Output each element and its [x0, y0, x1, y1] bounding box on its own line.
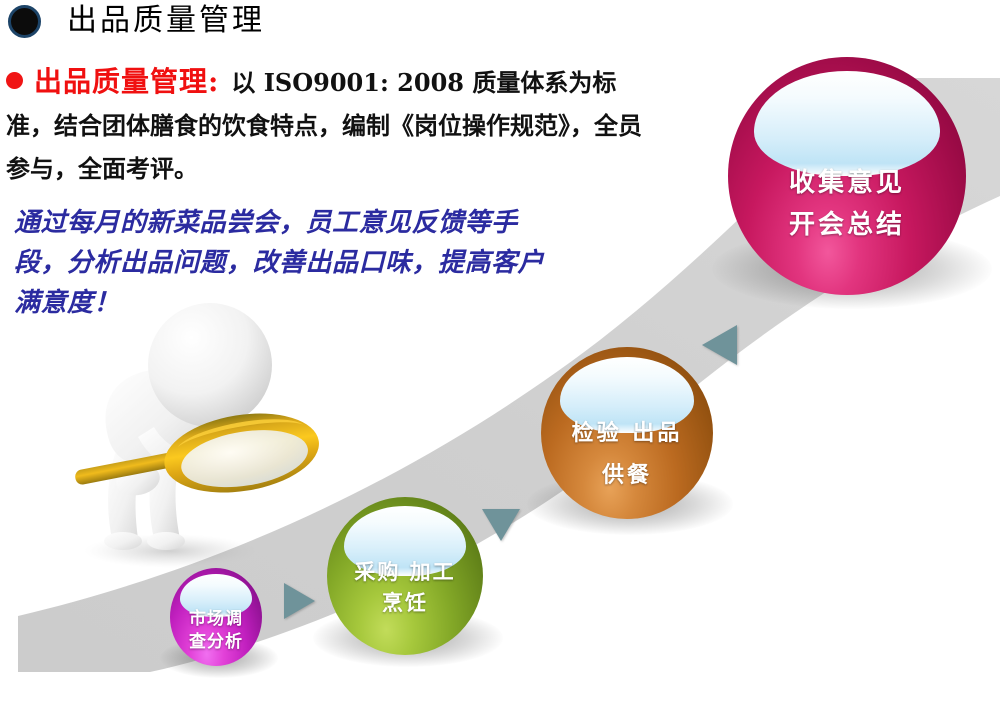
quality-management-paragraph: 出品质量管理:以 ISO9001: 2008 质量体系为标准，结合团体膳食的饮食… — [6, 60, 656, 190]
figure-left-foot — [104, 532, 142, 550]
3d-person-with-magnifier-icon — [62, 295, 342, 585]
node-label: 检验 出品 供餐 — [541, 413, 713, 497]
node-label: 采购 加工 烹饪 — [327, 557, 483, 619]
slide-heading: 出品质量管理 — [8, 4, 265, 38]
flow-node-cook[interactable]: 采购 加工 烹饪 — [327, 497, 483, 655]
red-bullet-icon — [6, 72, 23, 89]
node-label-line: 市场调 — [170, 608, 262, 631]
node-label-line: 检验 出品 — [541, 413, 713, 455]
triangle-left-icon — [702, 325, 737, 365]
node-label-line: 采购 加工 — [327, 557, 483, 588]
flow-node-market[interactable]: 市场调 查分析 — [170, 568, 262, 666]
node-gloss-highlight — [754, 71, 940, 176]
figure-right-foot — [147, 532, 185, 550]
node-label-line: 开会总结 — [728, 204, 966, 246]
triangle-down-icon — [482, 509, 520, 541]
page-title: 出品质量管理 — [67, 4, 265, 38]
node-label: 收集意见 开会总结 — [728, 162, 966, 246]
node-label-line: 查分析 — [170, 631, 262, 654]
flow-node-inspect[interactable]: 检验 出品 供餐 — [541, 347, 713, 519]
flow-node-feedback[interactable]: 收集意见 开会总结 — [728, 57, 966, 295]
triangle-right-icon — [284, 583, 315, 619]
node-label: 市场调 查分析 — [170, 608, 262, 654]
node-label-line: 烹饪 — [327, 588, 483, 619]
heading-bullet-icon — [8, 5, 41, 38]
node-label-line: 收集意见 — [728, 162, 966, 204]
paragraph-red-title: 出品质量管理: — [34, 65, 219, 98]
improvement-paragraph: 通过每月的新菜品尝会，员工意见反馈等手段，分析出品问题，改善出品口味，提高客户满… — [14, 203, 559, 323]
node-label-line: 供餐 — [541, 455, 713, 497]
slide-canvas: 出品质量管理 出品质量管理:以 ISO9001: 2008 质量体系为标准，结合… — [0, 0, 1000, 718]
